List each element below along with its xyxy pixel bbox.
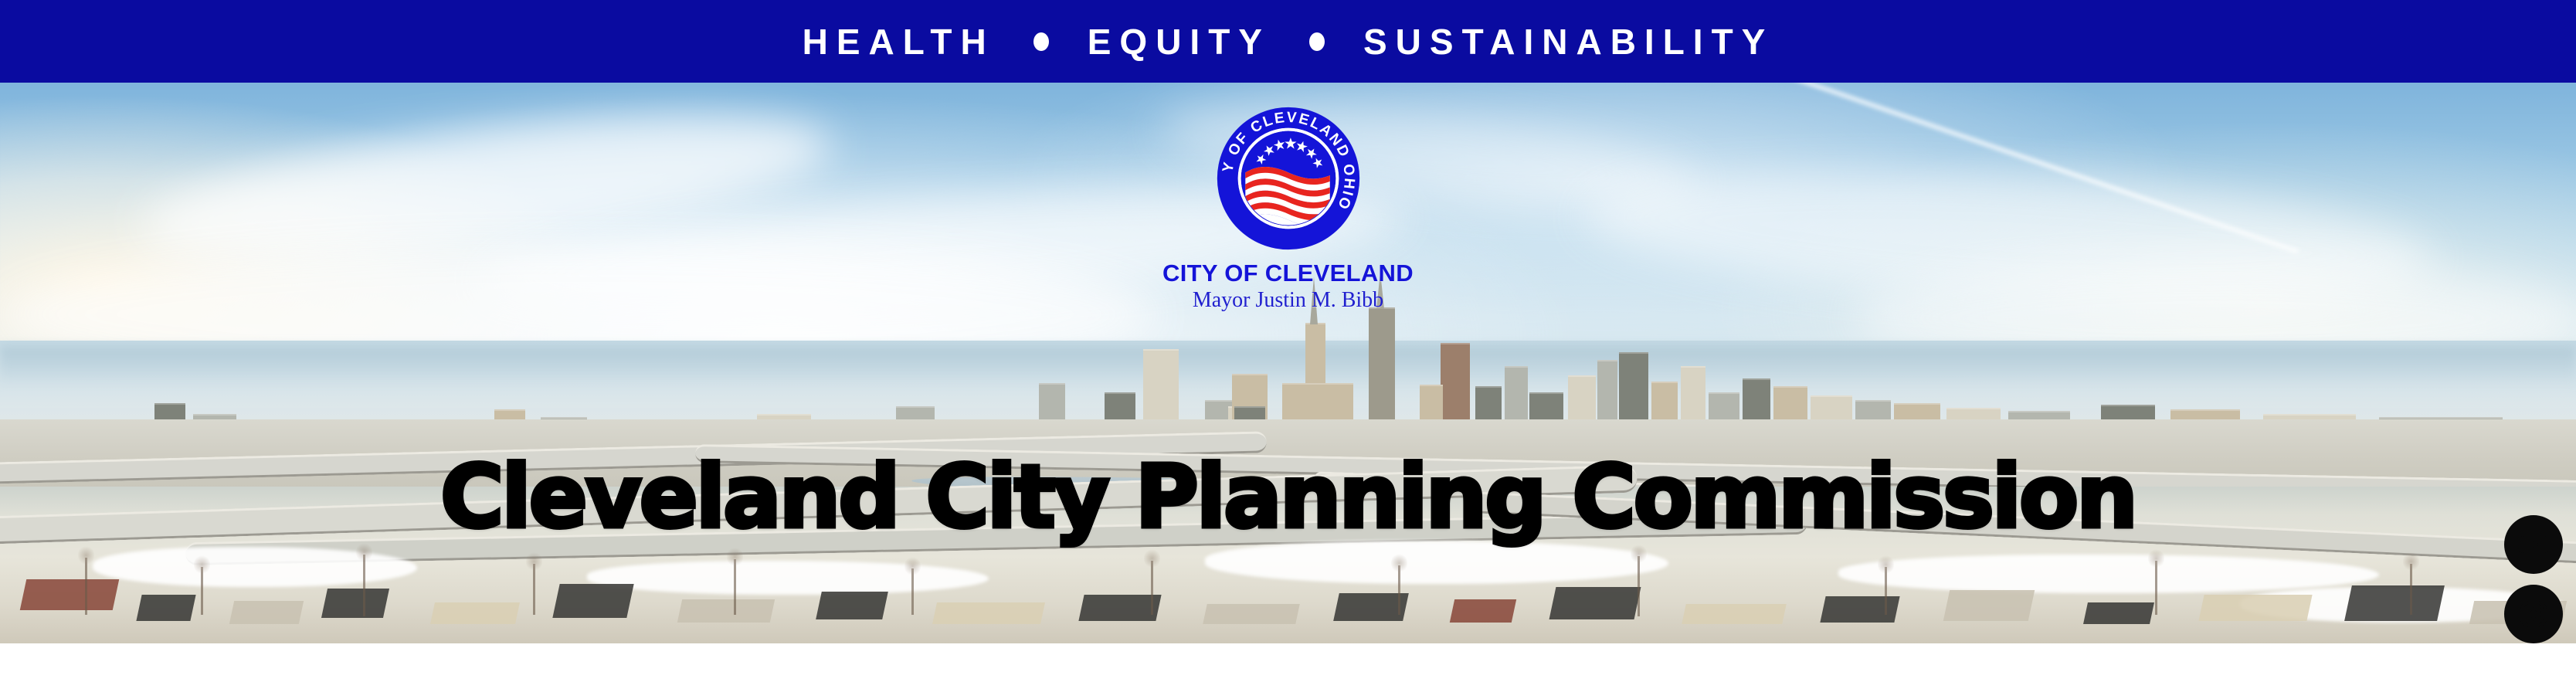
house-roof xyxy=(932,602,1045,624)
page-root: HEALTH EQUITY SUSTAINABILITY xyxy=(0,0,2576,682)
slogan-separator-dot-2 xyxy=(1309,32,1325,51)
bare-tree xyxy=(1151,561,1153,615)
bare-tree xyxy=(201,567,203,615)
bare-tree xyxy=(1638,556,1640,616)
house-roof xyxy=(2344,585,2445,621)
slogan-word-sustainability: SUSTAINABILITY xyxy=(1363,24,1773,59)
house-roof xyxy=(552,584,633,618)
house-roof xyxy=(430,602,520,624)
hero-photo: CITY OF CLEVELAND OHIO xyxy=(0,83,2576,643)
house-roof xyxy=(1820,596,1899,623)
house-roof xyxy=(1203,604,1300,624)
page-title: Cleveland City Planning Commission xyxy=(0,454,2576,541)
slogan-word-health: HEALTH xyxy=(803,24,995,59)
bottom-white-strip xyxy=(0,643,2576,682)
slogan-inner: HEALTH EQUITY SUSTAINABILITY xyxy=(803,24,1774,59)
house-roof xyxy=(677,599,775,623)
org-name: CITY OF CLEVELAND xyxy=(0,261,2576,287)
house-roof xyxy=(1549,587,1641,619)
house-roof xyxy=(136,595,195,621)
seal-and-wordmark: CITY OF CLEVELAND OHIO xyxy=(0,104,2576,311)
house-roof xyxy=(229,601,304,624)
house-roof xyxy=(2083,602,2154,624)
house-roof xyxy=(816,592,888,619)
bare-tree xyxy=(911,568,914,615)
house-roof xyxy=(1682,604,1787,624)
house-roof xyxy=(1078,595,1161,621)
mayor-name: Mayor Justin M. Bibb xyxy=(0,289,2576,311)
city-of-cleveland-seal-icon: CITY OF CLEVELAND OHIO xyxy=(1214,104,1363,253)
slogan-banner: HEALTH EQUITY SUSTAINABILITY xyxy=(0,0,2576,83)
bare-tree xyxy=(2410,564,2412,615)
house-roof xyxy=(20,579,120,610)
bare-tree xyxy=(85,558,87,615)
bare-tree xyxy=(734,559,736,615)
bare-tree xyxy=(2155,561,2157,615)
house-roof xyxy=(321,589,389,618)
bare-tree xyxy=(1398,565,1400,615)
snow-patch xyxy=(587,561,989,595)
snow-patch xyxy=(1838,555,2379,593)
bare-tree xyxy=(533,564,535,615)
slogan-word-equity: EQUITY xyxy=(1088,24,1271,59)
bare-tree xyxy=(363,555,365,616)
house-roof xyxy=(1450,599,1516,623)
bare-tree xyxy=(1885,567,1887,615)
house-roof xyxy=(2198,595,2312,621)
instagram-link[interactable] xyxy=(2504,585,2563,643)
slogan-separator-dot-1 xyxy=(1033,32,1049,51)
house-roof xyxy=(1943,590,2035,621)
